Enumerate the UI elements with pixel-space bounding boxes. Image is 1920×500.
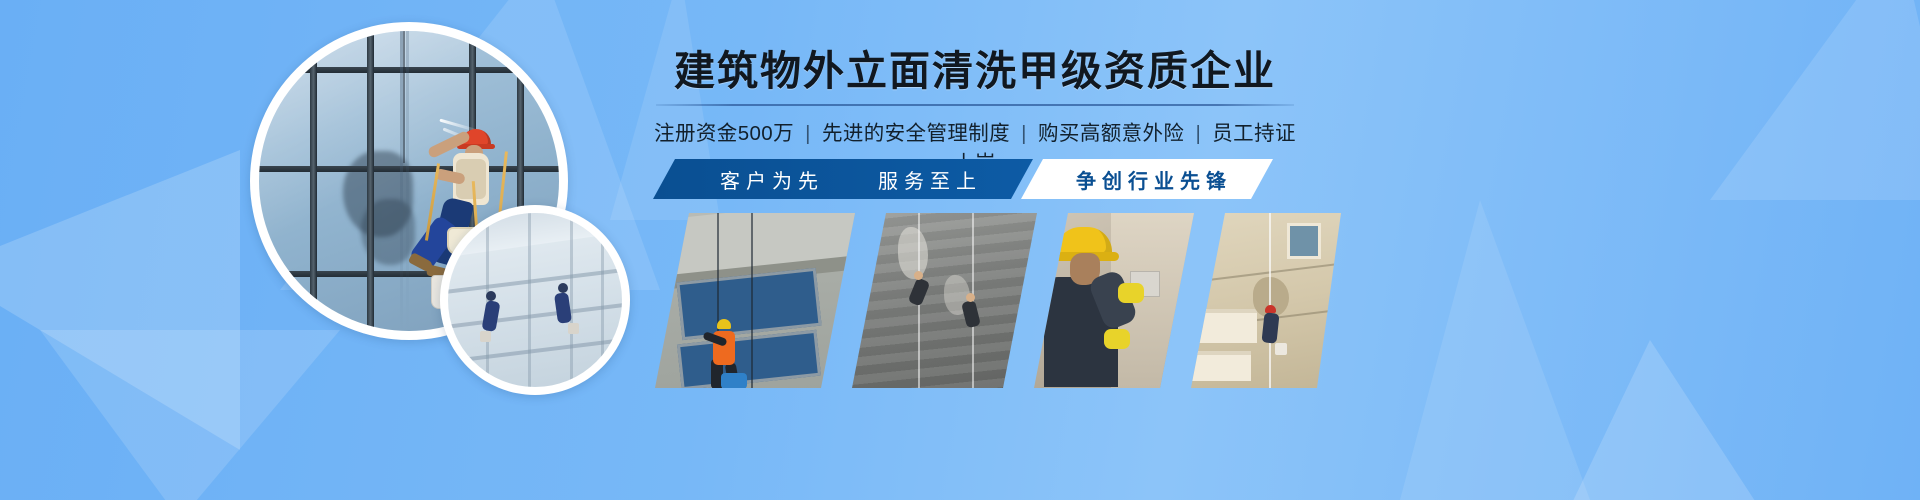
- background-triangle-7: [1400, 200, 1590, 500]
- collage-panel-4: [1191, 213, 1341, 388]
- subtitle-item-1: 注册资金500万: [654, 122, 794, 145]
- slogan-bar-primary: 客户为先 服务至上: [653, 159, 1033, 199]
- white-facade-photo: [448, 213, 622, 387]
- subtitle-separator-3: |: [1190, 122, 1206, 145]
- promo-banner: 建筑物外立面清洗甲级资质企业 注册资金500万 | 先进的安全管理制度 | 购买…: [0, 0, 1920, 500]
- collage-panel-3: [1034, 213, 1194, 388]
- slogan-primary-2: 服务至上: [878, 165, 982, 194]
- slogan-highlight: 争创行业先锋: [1062, 165, 1232, 194]
- subtitle-item-2: 先进的安全管理制度: [822, 122, 1010, 145]
- slogan-primary-1: 客户为先: [720, 165, 824, 194]
- slogan-bar-group: 客户为先 服务至上 争创行业先锋: [653, 159, 1273, 199]
- page-title: 建筑物外立面清洗甲级资质企业: [650, 48, 1300, 95]
- subtitle-item-3: 购买高额意外险: [1038, 122, 1184, 145]
- background-triangle-3: [40, 330, 340, 500]
- circle-photo-secondary: [440, 205, 630, 395]
- subtitle-separator-1: |: [800, 122, 816, 145]
- subtitle-separator-2: |: [1016, 122, 1032, 145]
- title-divider: [656, 104, 1294, 106]
- photo-collage: [655, 213, 1280, 388]
- background-triangle-4: [1710, 0, 1920, 200]
- collage-panel-2: [852, 213, 1037, 388]
- collage-panel-1: [655, 213, 855, 388]
- text-block: 建筑物外立面清洗甲级资质企业 注册资金500万 | 先进的安全管理制度 | 购买…: [650, 48, 1300, 176]
- slogan-bar-highlight: 争创行业先锋: [1021, 159, 1273, 199]
